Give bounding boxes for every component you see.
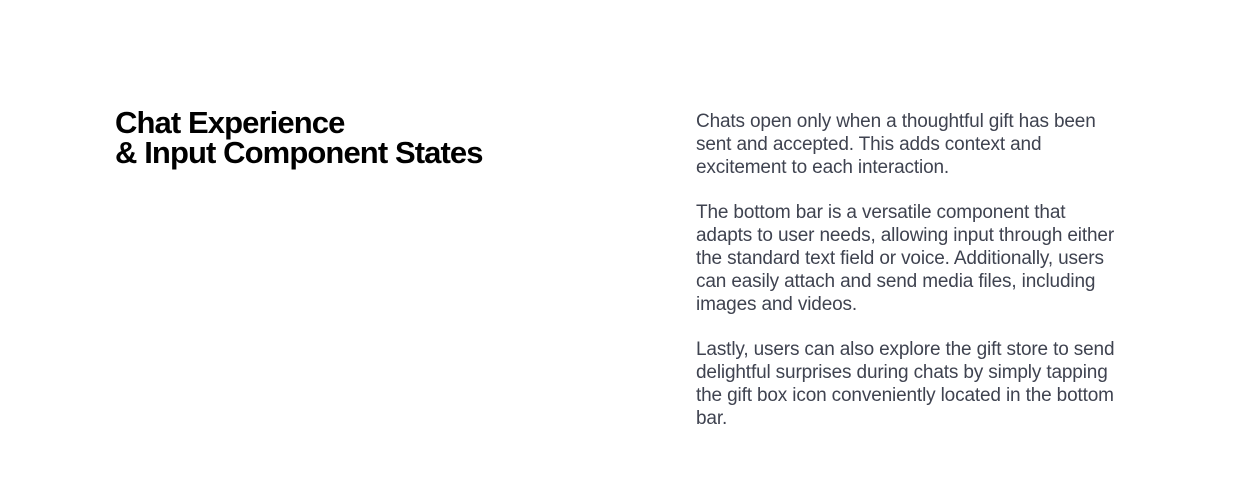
body-copy-block: Chats open only when a thoughtful gift h…	[696, 110, 1124, 430]
body-paragraph: Chats open only when a thoughtful gift h…	[696, 110, 1124, 179]
page-title: Chat Experience & Input Component States	[115, 108, 635, 168]
slide-canvas: Chat Experience & Input Component States…	[0, 0, 1240, 504]
body-paragraph: The bottom bar is a versatile component …	[696, 201, 1124, 316]
heading-block: Chat Experience & Input Component States	[115, 108, 635, 168]
body-paragraph: Lastly, users can also explore the gift …	[696, 338, 1124, 430]
